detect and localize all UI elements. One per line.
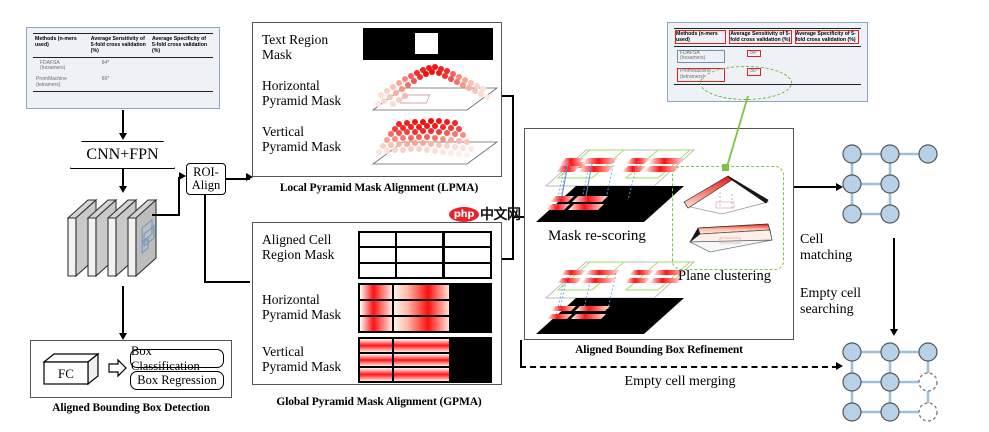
box-regression-button[interactable]: Box Regression <box>130 371 224 390</box>
annot-header-sensitivity-label: Average Sensitivity of 5-fold cross vali… <box>730 31 790 43</box>
gpma-vertical-mask-visual <box>358 337 451 383</box>
feature-map-stack <box>62 190 187 286</box>
lpma-caption: Local Pyramid Mask Alignment (LPMA) <box>248 182 510 194</box>
box-classification-label: Box Classification <box>131 344 223 374</box>
lpma-row-label-text-region: Text Region Mask <box>262 32 346 62</box>
cell-sensitivity: 84* <box>89 58 150 75</box>
connector-roi-to-gpma <box>204 281 250 283</box>
annot-cell-method: FDAFSA (hexamers) <box>674 47 728 66</box>
refinement-caption: Aligned Bounding Box Refinement <box>524 344 794 356</box>
annot-cell-specificity <box>794 66 861 85</box>
empty-cell-searching-label: Empty cell searching <box>800 286 880 317</box>
arrow-right-icon <box>246 173 253 181</box>
box-classification-button[interactable]: Box Classification <box>130 349 224 368</box>
input-table-card: Methods (n-mers used) Average Sensitivit… <box>26 27 220 109</box>
gpma-row-label-cell-region: Aligned Cell Region Mask <box>262 232 354 262</box>
gpma-horizontal-mask-visual <box>358 283 451 333</box>
annot-header-specificity: Average Specificity of 5-fold cross vali… <box>794 29 861 47</box>
lpma-row-label-vertical: Vertical Pyramid Mask <box>262 124 350 154</box>
annot-header-sensitivity: Average Sensitivity of 5-fold cross vali… <box>728 29 793 47</box>
annot-cell-method-label: FDAFSA (hexamers) <box>677 50 725 64</box>
connector-cnn-to-features <box>122 169 124 187</box>
cell-matching-label: Cell matching <box>800 232 870 263</box>
cell-matching-graph <box>830 140 960 230</box>
input-table: Methods (n-mers used) Average Sensitivit… <box>33 33 213 92</box>
empty-cell-searching-text: Empty cell searching <box>800 286 861 317</box>
table-row: PromMachine (tetramers) 86* <box>33 75 213 92</box>
gpma-caption: Global Pyramid Mask Alignment (GPMA) <box>244 396 514 408</box>
annot-cell-sensitivity-label: 84* <box>747 50 761 58</box>
annot-header-methods-label: Methods (n-mers used) <box>676 31 725 43</box>
roi-align-label: ROI-Align <box>187 166 225 192</box>
vertical-pyramid-mask-visual <box>355 112 500 168</box>
annot-header-specificity-label: Average Specificity of 5-fold cross vali… <box>796 31 858 43</box>
connector-features-to-roi <box>152 214 180 216</box>
php-logo-icon: php <box>449 207 479 222</box>
annot-header-methods: Methods (n-mers used) <box>674 29 728 47</box>
arrow-down-icon <box>890 329 898 336</box>
empty-cell-merging-label: Empty cell merging <box>590 374 770 390</box>
table-header-methods: Methods (n-mers used) <box>33 34 89 58</box>
gpma-row-label-vertical: Vertical Pyramid Mask <box>262 344 352 374</box>
annotation-ellipse <box>700 66 792 100</box>
connector-table-to-cnn <box>122 110 124 134</box>
cell-matching-text: Cell matching <box>800 232 852 263</box>
table-header-row: Methods (n-mers used) Average Sensitivit… <box>33 34 213 58</box>
connector-gpma-to-refine <box>512 218 514 260</box>
lpma-row-label-horizontal: Horizontal Pyramid Mask <box>262 78 350 108</box>
roi-align-block: ROI-Align <box>186 163 226 195</box>
table-header-specificity: Average Specificity of 5-fold cross vali… <box>150 34 213 58</box>
cell-specificity <box>150 75 213 92</box>
cell-method: FDAFSA (hexamers) <box>33 58 89 75</box>
connector-merge-up <box>520 340 522 367</box>
svg-text:FC: FC <box>58 366 74 381</box>
arrow-right-icon <box>179 172 186 180</box>
connector-roi-down <box>204 195 206 282</box>
cnn-fpn-label: CNN+FPN <box>86 146 158 164</box>
table-row: FDAFSA (hexamers) 84* <box>33 58 213 75</box>
table-header-sensitivity: Average Sensitivity of 5-fold cross vali… <box>89 34 150 58</box>
empty-cell-graph <box>830 338 960 428</box>
fc-block: FC <box>40 352 106 388</box>
connector-annotation-to-plane <box>718 96 758 172</box>
detection-caption: Aligned Bounding Box Detection <box>14 402 248 414</box>
plane-clustering-visual <box>676 170 780 266</box>
empty-cell-merging-arrow <box>520 366 838 368</box>
connector-lpma-out <box>502 95 514 97</box>
connector-lpma-to-refine <box>512 95 514 217</box>
plane-clustering-label: Plane clustering <box>678 268 771 285</box>
watermark: php 中文网 <box>449 204 521 224</box>
arrow-right-icon <box>836 183 843 191</box>
watermark-cn-label: 中文网 <box>480 204 521 224</box>
connector-refine-to-graph <box>794 186 838 188</box>
mask-rescoring-label: Mask re-scoring <box>548 228 646 245</box>
cell-sensitivity: 86* <box>89 75 150 92</box>
connector-graph-down <box>893 238 895 330</box>
arrow-down-icon <box>119 133 127 140</box>
cnn-fpn-block: CNN+FPN <box>70 141 175 169</box>
arrow-right-icon <box>836 362 843 370</box>
table-header-row: Methods (n-mers used) Average Sensitivit… <box>674 29 861 47</box>
box-regression-label: Box Regression <box>137 373 217 388</box>
annot-cell-sensitivity: 84* <box>728 47 793 66</box>
cell-method: PromMachine (tetramers) <box>33 75 89 92</box>
arrow-down-icon <box>119 333 127 340</box>
text-region-mask-hole <box>415 33 438 54</box>
table-row: FDAFSA (hexamers) 84* <box>674 47 861 66</box>
cell-specificity <box>150 58 213 75</box>
horizontal-pyramid-mask-visual <box>355 62 500 114</box>
connector-features-to-det <box>122 286 124 334</box>
arrow-right-icon <box>108 358 128 378</box>
gpma-row-label-horizontal: Horizontal Pyramid Mask <box>262 292 352 322</box>
connector-features-to-roi-v <box>178 177 180 215</box>
annot-cell-specificity <box>794 47 861 66</box>
aligned-cell-region-mask-visual <box>358 231 492 279</box>
